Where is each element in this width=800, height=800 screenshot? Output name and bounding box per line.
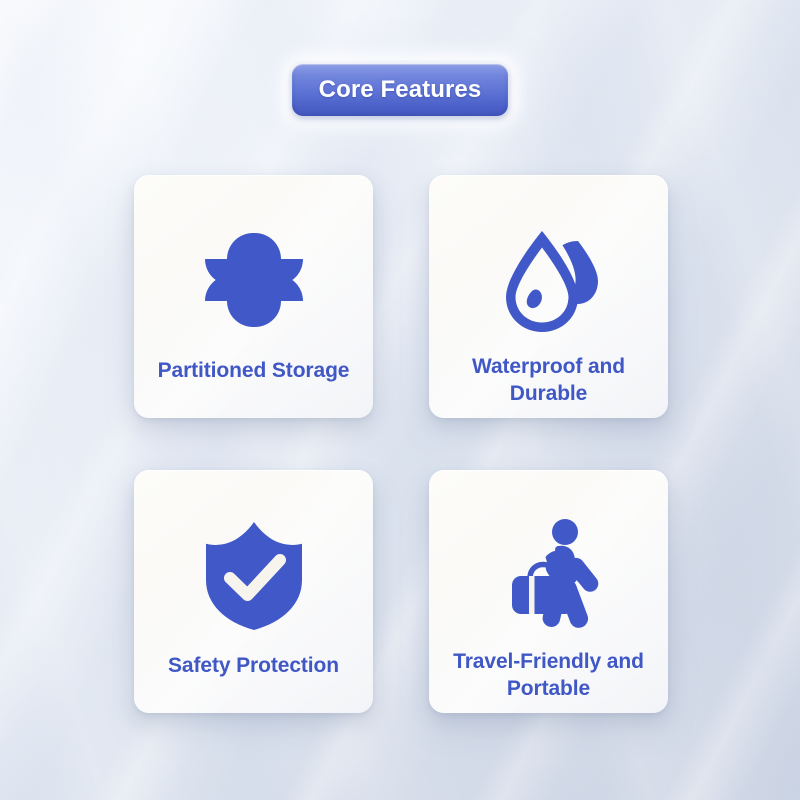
traveler-with-bag-icon [490,516,608,634]
feature-card-grid: Partitioned Storage Waterproof and Durab… [134,175,668,713]
shield-check-icon [195,516,313,634]
feature-label-travel-friendly: Travel-Friendly and Portable [429,648,668,702]
feature-highlight-panel: Core Features [0,0,800,800]
page-title: Core Features [319,76,482,104]
feature-label-waterproof-durable: Waterproof and Durable [429,353,668,407]
badge-glow: Core Features [288,60,512,120]
feature-card-safety-protection[interactable]: Safety Protection [134,470,373,713]
core-features-badge: Core Features [292,64,508,116]
water-drop-icon [490,221,608,339]
feature-card-waterproof-durable[interactable]: Waterproof and Durable [429,175,668,418]
four-petal-partition-icon [195,221,313,339]
feature-label-partitioned-storage: Partitioned Storage [148,357,360,384]
feature-card-travel-friendly[interactable]: Travel-Friendly and Portable [429,470,668,713]
feature-card-partitioned-storage[interactable]: Partitioned Storage [134,175,373,418]
feature-label-safety-protection: Safety Protection [158,652,349,679]
page-title-area: Core Features [0,60,800,120]
